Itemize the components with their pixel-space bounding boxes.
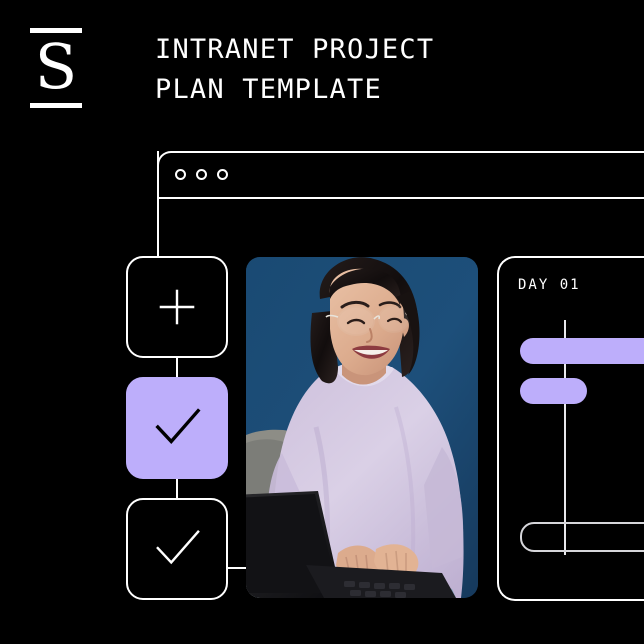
- checklist-column: [126, 256, 228, 601]
- checklist-item-done-1[interactable]: [126, 377, 228, 479]
- task-bar-2[interactable]: [520, 378, 587, 404]
- checklist-item-add[interactable]: [126, 256, 228, 358]
- checklist-item-done-2[interactable]: [126, 498, 228, 600]
- page-title: INTRANET PROJECT PLAN TEMPLATE: [155, 30, 625, 110]
- window-dot-close[interactable]: [175, 169, 186, 180]
- task-bar-1[interactable]: [520, 338, 644, 364]
- window-dot-minimize[interactable]: [196, 169, 207, 180]
- task-bar-3[interactable]: [520, 522, 644, 552]
- s-logo: S: [30, 28, 82, 108]
- checklist-connector-1: [176, 358, 178, 377]
- checklist-connector-2: [176, 479, 178, 498]
- check-icon: [128, 379, 226, 477]
- plus-icon: [128, 258, 226, 356]
- day-label: DAY 01: [518, 277, 581, 293]
- logo-bar-bottom: [30, 103, 82, 108]
- window-dot-maximize[interactable]: [217, 169, 228, 180]
- logo-letter: S: [30, 35, 82, 101]
- poster-canvas: S INTRANET PROJECT PLAN TEMPLATE: [0, 0, 644, 644]
- day-panel: DAY 01: [497, 256, 644, 601]
- traffic-light-group: [175, 169, 228, 180]
- hero-photo: [246, 257, 478, 598]
- check-icon: [128, 500, 226, 598]
- browser-titlebar: [159, 153, 644, 199]
- photo-illustration: [246, 257, 478, 598]
